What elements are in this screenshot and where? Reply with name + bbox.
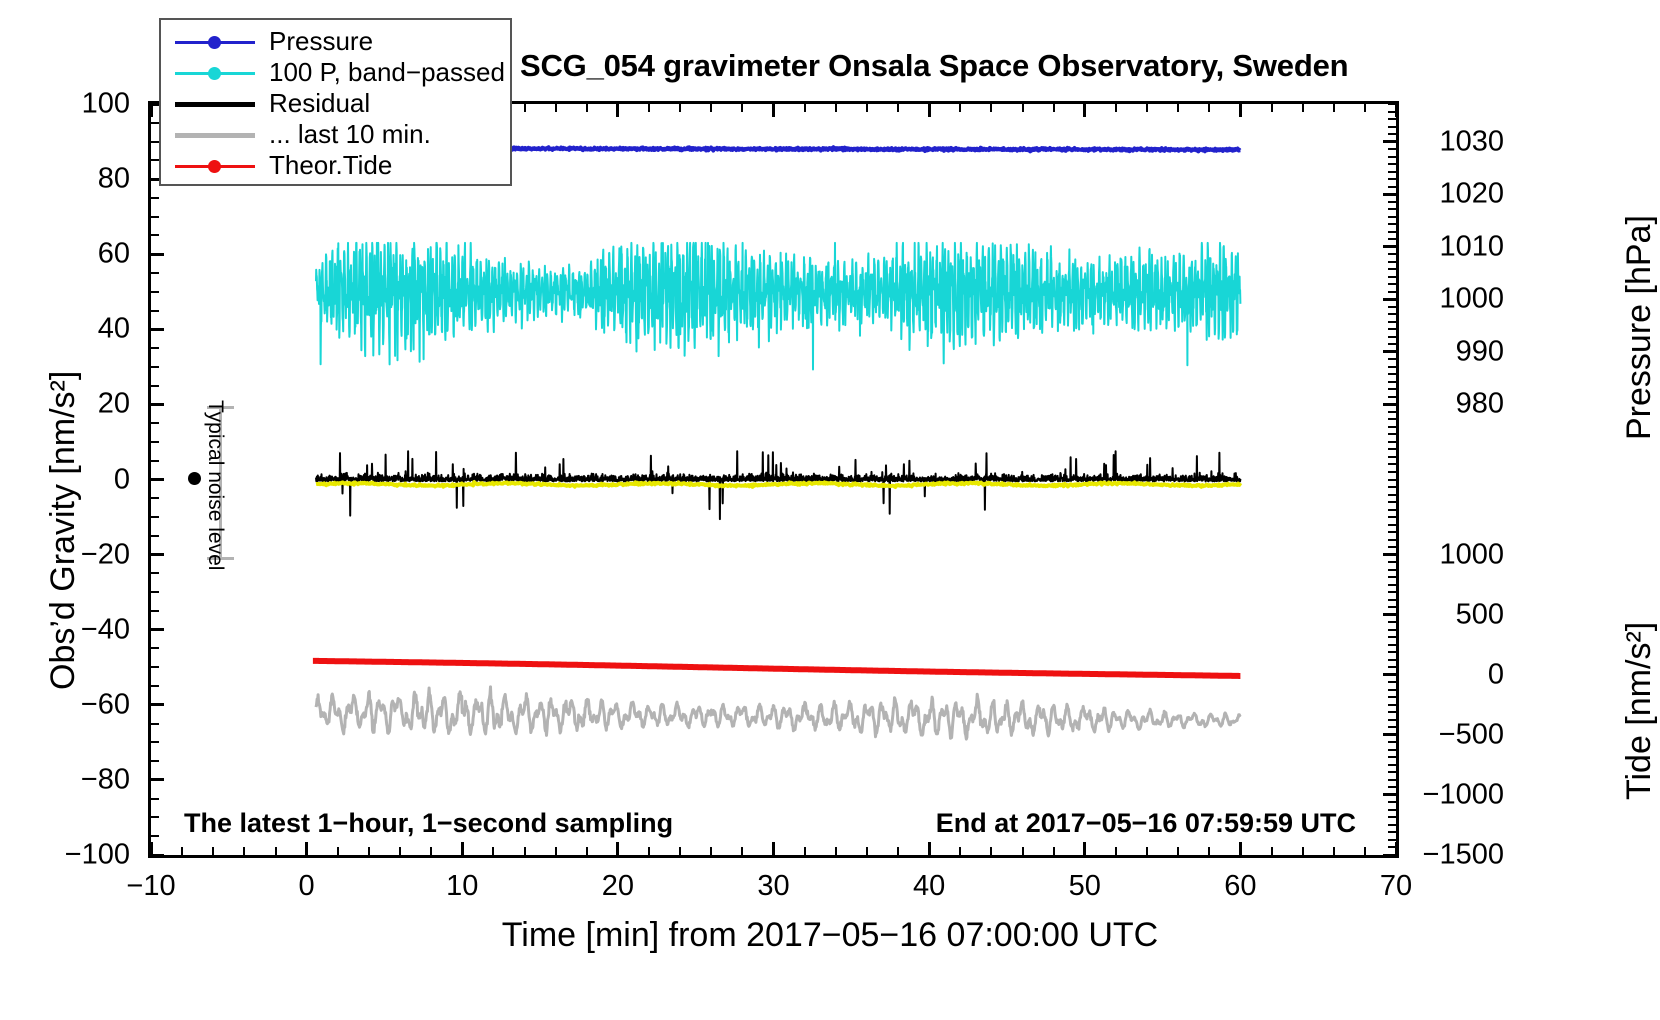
y-tick-minor-left [151,272,159,274]
x-tick-label: 0 [299,870,315,903]
note-bottom-right: End at 2017−05−16 07:59:59 UTC [936,808,1356,839]
y-tick-label-right-tide: −500 [1409,718,1504,751]
y-tick-minor-right [1388,816,1396,818]
x-tick-minor-top [835,104,837,112]
y-tick-minor-right [1388,171,1396,173]
x-tick-minor-bottom [275,847,277,855]
y-tick-minor-right [1388,726,1396,728]
y-tick-major-right [1383,245,1396,248]
y-tick-minor-right [1388,223,1396,225]
y-tick-minor-right [1388,809,1396,811]
y-axis-right-top-title: Pressure [hPa] [1620,215,1659,440]
legend-item-label: ... last 10 min. [269,119,431,150]
y-tick-major-right [1383,673,1396,676]
y-tick-major-left [151,478,164,481]
y-tick-major-right [1383,350,1396,353]
y-tick-label-left: 40 [0,313,130,346]
legend: Pressure100 P, band−passedResidual... la… [159,18,512,186]
y-tick-minor-left [151,460,159,462]
y-tick-major-right [1383,613,1396,616]
y-tick-minor-right [1388,201,1396,203]
y-tick-minor-right [1388,636,1396,638]
x-tick-minor-top [679,104,681,112]
y-tick-minor-right [1388,756,1396,758]
x-tick-minor-top [897,104,899,112]
y-tick-minor-right [1388,186,1396,188]
y-tick-minor-right [1388,771,1396,773]
y-tick-minor-right [1388,531,1396,533]
y-tick-minor-left [151,760,159,762]
y-tick-minor-right [1388,576,1396,578]
y-tick-label-right-tide: −1000 [1409,778,1504,811]
x-tick-major-top [772,104,775,117]
y-tick-minor-right [1388,388,1396,390]
y-tick-minor-right [1388,396,1396,398]
legend-line-swatch [175,133,255,138]
x-tick-label: 70 [1380,870,1412,903]
x-tick-minor-top [524,104,526,112]
legend-dot-swatch [208,36,221,49]
trace-last-10-min [316,687,1240,739]
y-tick-major-left [151,628,164,631]
y-tick-minor-left [151,798,159,800]
y-tick-label-right-pressure: 990 [1409,335,1504,368]
y-tick-major-right [1383,403,1396,406]
y-tick-minor-right [1388,696,1396,698]
y-tick-label-right-pressure: 1010 [1409,230,1504,263]
y-tick-minor-left [151,366,159,368]
y-tick-minor-left [151,441,159,443]
x-tick-minor-bottom [181,847,183,855]
x-tick-minor-bottom [524,847,526,855]
y-tick-major-right [1383,793,1396,796]
y-tick-minor-left [151,385,159,387]
y-tick-minor-right [1388,591,1396,593]
y-tick-minor-right [1388,276,1396,278]
y-tick-minor-left [151,741,159,743]
legend-key-icon [175,95,255,113]
y-tick-minor-right [1388,441,1396,443]
y-tick-major-right [1383,854,1396,857]
y-tick-minor-right [1388,156,1396,158]
y-tick-minor-right [1388,569,1396,571]
x-tick-minor-bottom [1302,847,1304,855]
y-tick-minor-right [1388,118,1396,120]
y-tick-minor-right [1388,839,1396,841]
x-tick-label: −10 [126,870,175,903]
y-tick-minor-right [1388,283,1396,285]
x-tick-minor-bottom [368,847,370,855]
y-tick-major-right [1383,140,1396,143]
y-tick-label-left: −60 [0,688,130,721]
y-tick-minor-left [151,216,159,218]
x-tick-minor-top [555,104,557,112]
y-tick-minor-right [1388,546,1396,548]
x-tick-minor-bottom [399,847,401,855]
y-tick-minor-right [1388,779,1396,781]
y-tick-major-left [151,854,164,857]
legend-key-icon [175,33,255,51]
legend-item-label: 100 P, band−passed [269,57,505,88]
x-tick-minor-bottom [212,847,214,855]
y-tick-minor-left [151,816,159,818]
trace-residual-smoothed [316,482,1240,487]
y-tick-minor-right [1388,343,1396,345]
x-tick-major-top [928,104,931,117]
note-bottom-left: The latest 1−hour, 1−second sampling [184,808,673,839]
y-tick-label-left: −100 [0,839,130,872]
y-tick-minor-right [1388,846,1396,848]
y-tick-minor-right [1388,291,1396,293]
y-tick-major-left [151,778,164,781]
x-tick-minor-bottom [835,847,837,855]
y-tick-minor-right [1388,599,1396,601]
y-tick-major-right [1383,733,1396,736]
y-tick-minor-right [1388,381,1396,383]
y-tick-minor-right [1388,178,1396,180]
y-tick-minor-right [1388,411,1396,413]
legend-item-residual[interactable]: Residual [161,88,510,119]
y-tick-minor-right [1388,321,1396,323]
x-tick-major-bottom [772,842,775,855]
y-tick-label-right-pressure: 980 [1409,388,1504,421]
x-tick-minor-top [1115,104,1117,112]
legend-item-pressure[interactable]: Pressure [161,26,510,57]
legend-key-icon [175,126,255,144]
y-tick-label-right-tide: 0 [1409,658,1504,691]
legend-dot-swatch [208,67,221,80]
x-tick-minor-bottom [741,847,743,855]
y-tick-minor-left [151,647,159,649]
noise-bar-label: Typical noise level [203,400,227,570]
y-tick-minor-right [1388,418,1396,420]
y-tick-minor-right [1388,433,1396,435]
y-tick-minor-right [1388,516,1396,518]
legend-item-theortide[interactable]: Theor.Tide [161,150,510,181]
y-tick-minor-left [151,685,159,687]
y-tick-minor-right [1388,456,1396,458]
y-tick-minor-right [1388,704,1396,706]
y-tick-minor-left [151,347,159,349]
y-tick-minor-left [151,572,159,574]
y-tick-minor-right [1388,501,1396,503]
y-tick-major-left [151,328,164,331]
x-tick-minor-bottom [710,847,712,855]
y-tick-minor-right [1388,666,1396,668]
chart-root: SCG_054 gravimeter Onsala Space Observat… [0,0,1660,1020]
y-tick-label-right-pressure: 1020 [1409,178,1504,211]
x-tick-minor-top [1364,104,1366,112]
y-tick-label-left: 80 [0,163,130,196]
x-tick-minor-bottom [866,847,868,855]
x-tick-minor-bottom [586,847,588,855]
x-tick-minor-bottom [679,847,681,855]
y-tick-label-right-tide: 500 [1409,598,1504,631]
y-tick-minor-left [151,141,159,143]
y-tick-label-left: 60 [0,238,130,271]
y-tick-minor-right [1388,463,1396,465]
x-tick-minor-top [1022,104,1024,112]
y-tick-minor-right [1388,824,1396,826]
y-tick-minor-right [1388,133,1396,135]
y-tick-minor-right [1388,509,1396,511]
y-tick-minor-right [1388,126,1396,128]
y-tick-minor-right [1388,471,1396,473]
x-tick-minor-top [710,104,712,112]
y-tick-major-left [151,553,164,556]
y-tick-minor-right [1388,606,1396,608]
x-axis-title: Time [min] from 2017−05−16 07:00:00 UTC [502,916,1158,955]
x-tick-major-bottom [1083,842,1086,855]
y-tick-minor-right [1388,644,1396,646]
y-tick-major-left [151,703,164,706]
x-tick-minor-bottom [492,847,494,855]
x-tick-minor-bottom [1271,847,1273,855]
x-tick-major-top [616,104,619,117]
y-tick-minor-right [1388,261,1396,263]
y-tick-minor-right [1388,111,1396,113]
legend-item-label: Pressure [269,26,373,57]
y-tick-minor-right [1388,328,1396,330]
y-tick-minor-right [1388,216,1396,218]
y-tick-major-left [151,403,164,406]
y-tick-minor-left [151,122,159,124]
x-tick-minor-bottom [990,847,992,855]
x-tick-major-top [150,104,153,117]
x-tick-minor-bottom [243,847,245,855]
y-tick-minor-right [1388,231,1396,233]
y-tick-label-right-tide: 1000 [1409,538,1504,571]
y-tick-minor-right [1388,561,1396,563]
x-tick-minor-top [804,104,806,112]
legend-line-swatch [175,102,255,107]
legend-dot-swatch [208,160,221,173]
x-tick-minor-top [1271,104,1273,112]
x-tick-minor-bottom [1208,847,1210,855]
y-tick-label-right-pressure: 1000 [1409,283,1504,316]
x-tick-minor-top [1333,104,1335,112]
x-tick-minor-top [1146,104,1148,112]
y-tick-minor-left [151,591,159,593]
legend-key-icon [175,64,255,82]
y-tick-minor-right [1388,238,1396,240]
legend-item-bandpassed[interactable]: 100 P, band−passed [161,57,510,88]
x-tick-minor-bottom [555,847,557,855]
legend-key-icon [175,157,255,175]
y-tick-minor-right [1388,479,1396,481]
legend-item-label: Theor.Tide [269,150,392,181]
y-tick-minor-right [1388,313,1396,315]
y-tick-minor-right [1388,494,1396,496]
x-tick-major-bottom [305,842,308,855]
y-tick-minor-left [151,497,159,499]
x-tick-minor-top [586,104,588,112]
y-tick-minor-left [151,159,159,161]
x-tick-label: 50 [1069,870,1101,903]
y-tick-minor-right [1388,208,1396,210]
x-tick-minor-top [1208,104,1210,112]
y-tick-minor-right [1388,486,1396,488]
x-tick-minor-bottom [1364,847,1366,855]
plot-area: The latest 1−hour, 1−second sampling End… [148,101,1399,858]
trace-band-passed [316,243,1240,370]
x-tick-label: 60 [1224,870,1256,903]
x-tick-minor-bottom [897,847,899,855]
y-tick-minor-left [151,516,159,518]
y-tick-minor-right [1388,148,1396,150]
y-tick-minor-right [1388,621,1396,623]
y-tick-minor-right [1388,749,1396,751]
y-tick-minor-right [1388,336,1396,338]
y-tick-minor-right [1388,366,1396,368]
data-traces [151,104,1396,855]
legend-item-label: Residual [269,88,370,119]
x-tick-label: 40 [913,870,945,903]
x-tick-label: 30 [757,870,789,903]
y-tick-minor-right [1388,539,1396,541]
x-tick-minor-bottom [430,847,432,855]
y-axis-right-bottom-title: Tide [nm/s²] [1620,622,1659,800]
noise-center-dot [188,472,201,485]
trace-theor-tide [313,661,1241,676]
y-tick-minor-right [1388,373,1396,375]
y-tick-major-right [1383,553,1396,556]
legend-item-last10min[interactable]: ... last 10 min. [161,119,510,150]
y-tick-minor-left [151,422,159,424]
y-tick-label-right-pressure: 1030 [1409,125,1504,158]
y-tick-major-right [1383,193,1396,196]
y-tick-minor-right [1388,801,1396,803]
y-tick-minor-right [1388,741,1396,743]
x-tick-major-bottom [461,842,464,855]
x-tick-minor-top [866,104,868,112]
x-tick-minor-bottom [1146,847,1148,855]
x-tick-major-top [1239,104,1242,117]
x-tick-minor-top [648,104,650,112]
x-tick-minor-top [1177,104,1179,112]
y-tick-minor-right [1388,786,1396,788]
x-tick-minor-top [741,104,743,112]
x-tick-minor-top [959,104,961,112]
y-tick-minor-right [1388,831,1396,833]
y-tick-label-right-tide: −1500 [1409,839,1504,872]
x-tick-minor-bottom [804,847,806,855]
y-tick-minor-left [151,197,159,199]
x-tick-minor-bottom [1115,847,1117,855]
y-tick-minor-right [1388,163,1396,165]
y-tick-major-right [1383,298,1396,301]
y-tick-minor-right [1388,629,1396,631]
y-tick-minor-right [1388,253,1396,255]
y-tick-minor-right [1388,681,1396,683]
page-title: SCG_054 gravimeter Onsala Space Observat… [520,48,1348,84]
y-tick-minor-right [1388,719,1396,721]
x-tick-major-bottom [928,842,931,855]
y-tick-minor-left [151,291,159,293]
y-tick-minor-left [151,234,159,236]
x-tick-minor-bottom [1022,847,1024,855]
x-tick-label: 20 [602,870,634,903]
y-tick-minor-right [1388,306,1396,308]
x-tick-major-top [1083,104,1086,117]
y-tick-minor-right [1388,268,1396,270]
x-tick-minor-bottom [1053,847,1055,855]
y-tick-minor-left [151,666,159,668]
x-tick-minor-bottom [337,847,339,855]
x-tick-major-bottom [1239,842,1242,855]
y-tick-minor-left [151,535,159,537]
y-tick-minor-right [1388,711,1396,713]
y-tick-minor-right [1388,524,1396,526]
y-tick-major-left [151,253,164,256]
y-tick-minor-right [1388,659,1396,661]
x-tick-minor-top [990,104,992,112]
y-tick-minor-right [1388,689,1396,691]
y-tick-minor-left [151,835,159,837]
x-tick-minor-top [1302,104,1304,112]
x-tick-minor-bottom [648,847,650,855]
y-tick-minor-right [1388,426,1396,428]
x-tick-minor-bottom [1333,847,1335,855]
y-tick-minor-left [151,310,159,312]
y-tick-minor-right [1388,584,1396,586]
y-tick-minor-right [1388,448,1396,450]
y-tick-minor-left [151,610,159,612]
x-tick-minor-top [1053,104,1055,112]
y-tick-minor-right [1388,764,1396,766]
y-tick-minor-right [1388,651,1396,653]
y-tick-minor-right [1388,358,1396,360]
y-tick-label-left: −80 [0,763,130,796]
y-tick-minor-right [1388,103,1396,105]
x-tick-minor-bottom [959,847,961,855]
x-tick-major-bottom [616,842,619,855]
y-axis-left-title: Obs’d Gravity [nm/s²] [44,371,83,690]
x-tick-label: 10 [446,870,478,903]
y-tick-minor-left [151,723,159,725]
x-tick-minor-bottom [1177,847,1179,855]
y-tick-label-left: 100 [0,88,130,121]
